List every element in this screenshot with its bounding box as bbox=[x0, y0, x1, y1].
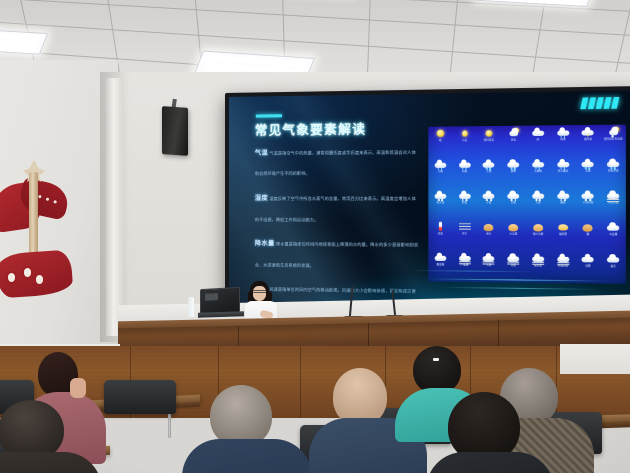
weather-cell: 阵雨夹雪 bbox=[601, 156, 626, 173]
weather-label: 小雨 bbox=[438, 171, 443, 174]
weather-cell: 小雪 bbox=[477, 189, 501, 205]
weather-cell: 霾 bbox=[575, 220, 600, 237]
weather-label: 少云 bbox=[462, 140, 467, 143]
thermometer-icon bbox=[433, 222, 447, 232]
weather-cell: 阴 bbox=[526, 125, 551, 142]
weather-cell: 中到大雪 bbox=[601, 188, 626, 205]
cloud-rain-icon bbox=[506, 159, 520, 170]
cloud-storm-icon bbox=[581, 127, 595, 138]
weather-label: 雨夹雪 bbox=[437, 202, 445, 205]
weather-label: 中雨 bbox=[462, 171, 467, 174]
weather-label: 小到中雪 bbox=[583, 202, 594, 205]
weather-cell: 中度霾 bbox=[601, 220, 626, 237]
slide-paragraph-body: 气温是指空气中的热量，通常用摄氏度或华氏度来表示。高温和低温会对人体和自然环境产… bbox=[255, 150, 416, 177]
sandstorm-icon bbox=[531, 222, 545, 233]
slide-paragraph-heading: 湿度 bbox=[255, 195, 268, 202]
red-papercut-decoration bbox=[0, 178, 82, 328]
sun-hail-icon bbox=[606, 127, 620, 138]
papercut-medallion bbox=[34, 273, 45, 286]
weather-cell: 阵雨 bbox=[550, 125, 575, 142]
weather-label: 大雨 bbox=[486, 171, 491, 174]
cloud-rain-icon bbox=[556, 127, 570, 138]
weather-label: 雷阵雨 bbox=[584, 139, 592, 142]
weather-cell: 晴 bbox=[428, 126, 452, 142]
cloud-icon bbox=[606, 222, 620, 233]
cloud-icon bbox=[531, 128, 545, 139]
weather-label: 晴 bbox=[439, 140, 442, 143]
slide-decor-bars bbox=[581, 97, 618, 109]
weather-label: 阴 bbox=[537, 139, 540, 142]
weather-cell: 大雨 bbox=[477, 157, 501, 173]
weather-label: 阵雨 bbox=[560, 139, 565, 142]
weather-label: 阵雪 bbox=[462, 202, 467, 205]
cloud-rain-icon bbox=[606, 159, 620, 170]
cloud-snow-icon bbox=[506, 191, 520, 201]
weather-row: 高温浮尘扬沙沙尘暴强沙尘暴强浓雾霾中度霾 bbox=[428, 220, 626, 252]
weather-cell: 强浓雾 bbox=[550, 220, 575, 237]
lecture-room-photo: 常见气象要素解读 气温 气温是指空气中的热量，通常用摄氏度或华氏度来表示。高温和… bbox=[0, 0, 630, 473]
cloud-rain-icon bbox=[458, 159, 472, 169]
slide-title-rule bbox=[256, 114, 282, 117]
cloud-snow-icon bbox=[556, 190, 570, 201]
haze-icon bbox=[458, 222, 472, 232]
presenter-face bbox=[253, 286, 266, 301]
weather-label: 霾 bbox=[587, 234, 590, 237]
cloud-sun-icon bbox=[506, 128, 520, 139]
laptop-base bbox=[198, 311, 244, 318]
weather-label: 强沙尘暴 bbox=[533, 234, 543, 237]
weather-cell: 少云 bbox=[452, 126, 476, 142]
cloud-rain-icon bbox=[433, 160, 447, 170]
weather-label: 阵雨夹雪 bbox=[608, 170, 619, 173]
slide-paragraph-heading: 气温 bbox=[255, 150, 268, 157]
weather-cell: 多云 bbox=[501, 126, 526, 143]
weather-label: 多云 bbox=[511, 139, 516, 142]
sun-icon bbox=[433, 129, 447, 139]
weather-cell: 浮尘 bbox=[452, 220, 476, 236]
weather-row: 小雨中雨大雨暴雨大暴雨特大暴雨冻雨阵雨夹雪 bbox=[428, 156, 626, 188]
cloud-rain-icon bbox=[482, 159, 496, 169]
slide-title: 常见气象要素解读 bbox=[255, 118, 366, 138]
cloud-rain-icon bbox=[556, 159, 570, 170]
weather-cell: 暴雨 bbox=[501, 157, 526, 173]
weather-label: 大暴雨 bbox=[534, 171, 542, 174]
weather-label: 强浓雾 bbox=[559, 234, 567, 237]
papercut-medallion bbox=[22, 266, 33, 279]
audience-chair[interactable] bbox=[104, 380, 176, 414]
weather-cell: 大暴雨 bbox=[526, 157, 551, 174]
weather-label: 中雪 bbox=[511, 202, 516, 205]
weather-cell: 晴间多云 bbox=[477, 126, 501, 143]
sandstorm-icon bbox=[506, 222, 520, 233]
sun-small-icon bbox=[482, 128, 496, 139]
weather-cell: 小到中雪 bbox=[575, 188, 600, 205]
weather-row: 雨夹雪阵雪小雪中雪大雪暴雪小到中雪中到大雪 bbox=[428, 188, 626, 220]
sun-small-icon bbox=[458, 128, 472, 139]
cloud-snow-icon bbox=[433, 191, 447, 201]
weather-cell: 雷阵雨伴有冰雹 bbox=[601, 125, 626, 142]
slide-paragraph-body: 湿度反映了空气中所含水蒸气的含量，常用百分比来表示。高湿度会增加人体的不适感，降… bbox=[255, 196, 416, 222]
laptop[interactable] bbox=[200, 288, 242, 320]
weather-cell: 雨夹雪 bbox=[428, 189, 452, 205]
display-screen: 常见气象要素解读 气温 气温是指空气中的热量，通常用摄氏度或华氏度来表示。高温和… bbox=[229, 90, 630, 309]
weather-cell: 雷阵雨 bbox=[575, 125, 600, 142]
weather-label: 高温 bbox=[438, 233, 443, 236]
glasses-icon bbox=[253, 290, 266, 293]
cloud-snow-icon bbox=[458, 191, 472, 201]
slide-paragraph: 气温 气温是指空气中的热量，通常用摄氏度或华氏度来表示。高温和低温会对人体和自然… bbox=[255, 139, 419, 182]
cloud-wind-icon bbox=[606, 190, 620, 201]
weather-label: 沙尘暴 bbox=[509, 233, 517, 236]
weather-cell: 大雪 bbox=[526, 188, 551, 204]
slide-paragraph: 湿度 湿度反映了空气中所含水蒸气的含量，常用百分比来表示。高湿度会增加人体的不适… bbox=[255, 186, 419, 228]
weather-row: 晴少云晴间多云多云阴阵雨雷阵雨雷阵雨伴有冰雹 bbox=[428, 125, 626, 158]
weather-label: 特大暴雨 bbox=[558, 170, 568, 173]
weather-cell: 高温 bbox=[428, 220, 452, 236]
weather-label: 晴间多云 bbox=[484, 140, 494, 143]
weather-label: 扬沙 bbox=[486, 233, 491, 236]
water-bottle[interactable] bbox=[188, 297, 194, 317]
weather-cell: 小雨 bbox=[428, 158, 452, 174]
cloud-rain-icon bbox=[581, 159, 595, 170]
weather-cell: 阵雪 bbox=[452, 189, 476, 205]
weather-label: 大雪 bbox=[535, 202, 540, 205]
dust-icon bbox=[482, 222, 496, 232]
cloud-snow-icon bbox=[531, 191, 545, 201]
weather-label: 中到大雪 bbox=[608, 202, 619, 205]
wall-display[interactable]: 常见气象要素解读 气温 气温是指空气中的热量，通常用摄氏度或华氏度来表示。高温和… bbox=[225, 86, 630, 315]
weather-label: 雷阵雨伴有冰雹 bbox=[604, 138, 623, 141]
duck-icon bbox=[556, 222, 570, 233]
weather-cell: 中雨 bbox=[452, 157, 476, 173]
weather-cell: 扬沙 bbox=[477, 220, 501, 236]
cloud-snow-icon bbox=[581, 190, 595, 201]
weather-label: 暴雨 bbox=[511, 171, 516, 174]
weather-cell: 中雪 bbox=[501, 188, 526, 204]
papercut-medallion bbox=[6, 271, 17, 284]
corner-column bbox=[106, 78, 123, 336]
cloud-rain-icon bbox=[531, 159, 545, 170]
weather-cell: 冻雨 bbox=[575, 157, 600, 174]
weather-label: 浮尘 bbox=[462, 233, 467, 236]
weather-label: 小雪 bbox=[486, 202, 491, 205]
dust-icon bbox=[581, 222, 595, 233]
wall-speaker bbox=[162, 106, 188, 156]
right-wall-lower bbox=[560, 344, 630, 374]
weather-cell: 强沙尘暴 bbox=[526, 220, 551, 237]
weather-cell: 暴雪 bbox=[550, 188, 575, 204]
cloud-snow-icon bbox=[482, 191, 496, 201]
weather-cell: 特大暴雨 bbox=[550, 157, 575, 174]
weather-label: 冻雨 bbox=[585, 170, 590, 173]
weather-cell: 沙尘暴 bbox=[501, 220, 526, 236]
weather-label: 中度霾 bbox=[609, 234, 617, 237]
weather-label: 暴雪 bbox=[560, 202, 565, 205]
